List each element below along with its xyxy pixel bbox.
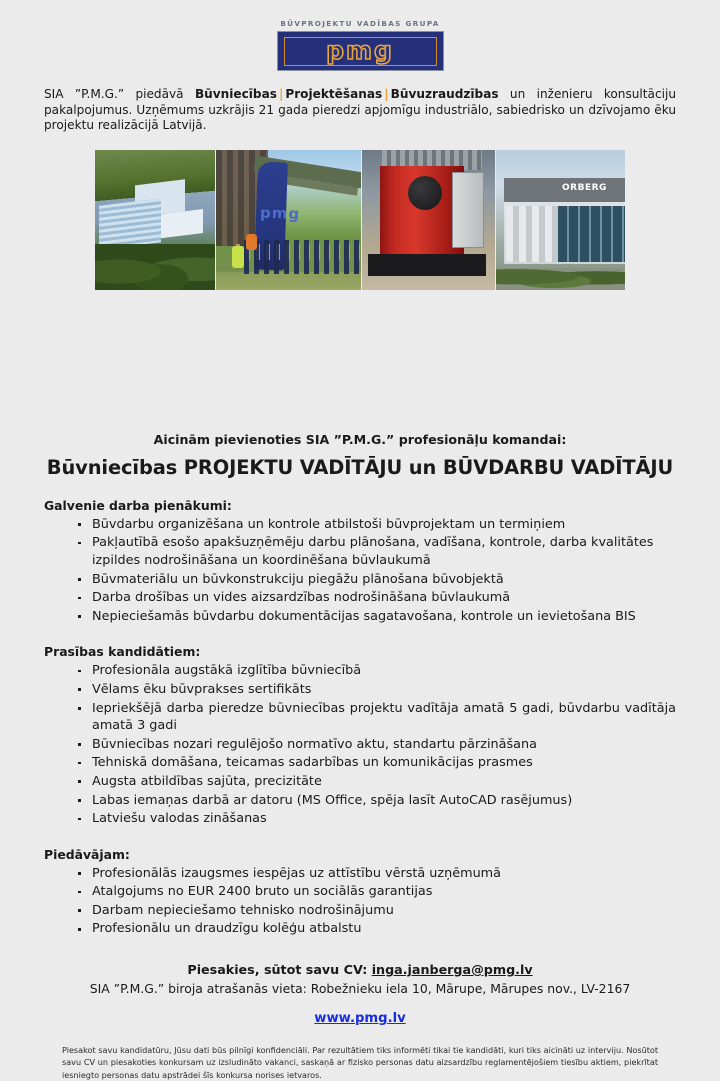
service-projektesanas: Projektēšanas xyxy=(285,87,382,101)
list-item: Pakļautībā esošo apakšuzņēmēju darbu plā… xyxy=(78,534,676,569)
list-item: Iepriekšējā darba pieredze būvniecības p… xyxy=(78,700,676,735)
invitation-line: Aicinām pievienoties SIA ”P.M.G.” profes… xyxy=(0,432,720,447)
photo-machine-base xyxy=(368,254,486,276)
logo-tagline: BŪVPROJEKTU VADĪBAS GRUPA xyxy=(280,19,439,28)
list-item: Būvniecības nozari regulējošo normatīvo … xyxy=(78,736,676,754)
job-title: Būvniecības PROJEKTU VADĪTĀJU un BŪVDARB… xyxy=(0,456,720,479)
section-duties-title: Galvenie darba pienākumi: xyxy=(44,498,676,513)
service-buvniecibas: Būvniecības xyxy=(195,87,277,101)
apply-label: Piesakies, sūtot savu CV: xyxy=(187,962,367,977)
section-requirements: Prasības kandidātiem: Profesionāla augst… xyxy=(44,644,676,827)
photo-people-seated xyxy=(244,240,361,274)
list-item: Tehniskā domāšana, teicamas sadarbības u… xyxy=(78,754,676,772)
logo-inner-frame: pmg xyxy=(284,37,437,66)
photo-red-industrial-machinery xyxy=(362,150,495,290)
photo-machine-control-panel xyxy=(452,172,484,248)
service-separator-2: | xyxy=(382,87,390,101)
job-advertisement-page: BŪVPROJEKTU VADĪBAS GRUPA pmg SIA ”P.M.G… xyxy=(0,0,720,1030)
list-item: Profesionāla augstākā izglītība būvniecī… xyxy=(78,662,676,680)
list-item: Augsta atbildības sajūta, precizitāte xyxy=(78,773,676,791)
logo-box: pmg xyxy=(277,31,444,71)
photo-aerial-industrial-site xyxy=(95,150,215,290)
list-item: Profesionālās izaugsmes iespējas uz attī… xyxy=(78,865,676,883)
photo-machine-drum xyxy=(408,176,442,210)
section-requirements-title: Prasības kandidātiem: xyxy=(44,644,676,659)
list-item: Būvdarbu organizēšana un kontrole atbils… xyxy=(78,516,676,534)
photo-landscaping xyxy=(496,268,625,290)
duties-list: Būvdarbu organizēšana un kontrole atbils… xyxy=(44,516,676,626)
privacy-disclaimer: Piesakot savu kandidatūru, Jūsu dati būs… xyxy=(62,1044,658,1081)
intro-lead: SIA ”P.M.G.” piedāvā xyxy=(44,87,184,101)
list-item: Darbam nepieciešamo tehnisko nodrošināju… xyxy=(78,902,676,920)
photo-building-columns xyxy=(506,206,560,262)
office-address: SIA ”P.M.G.” biroja atrašanās vieta: Rob… xyxy=(0,981,720,996)
offer-list: Profesionālās izaugsmes iespējas uz attī… xyxy=(44,865,676,938)
list-item: Labas iemaņas darbā ar datoru (MS Office… xyxy=(78,792,676,810)
list-item: Darba drošības un vides aizsardzības nod… xyxy=(78,589,676,607)
logo-wordmark: pmg xyxy=(326,38,394,65)
intro-paragraph: SIA ”P.M.G.” piedāvā Būvniecības|Projekt… xyxy=(44,87,676,134)
section-offer-title: Piedāvājam: xyxy=(44,847,676,862)
photo-orange-shirt-worker xyxy=(246,234,257,250)
website-line: www.pmg.lv xyxy=(0,1009,720,1027)
list-item: Atalgojums no EUR 2400 bruto un sociālās… xyxy=(78,883,676,901)
list-item: Vēlams ēku būvprakses sertifikāts xyxy=(78,681,676,699)
photo-banner-text: pmg xyxy=(260,204,301,223)
email-link[interactable]: inga.janberga@pmg.lv xyxy=(372,962,533,977)
requirements-list: Profesionāla augstākā izglītība būvniecī… xyxy=(44,662,676,827)
apply-line: Piesakies, sūtot savu CV: inga.janberga@… xyxy=(0,962,720,977)
photo-team-with-pmg-banner: pmg xyxy=(216,150,361,290)
section-duties: Galvenie darba pienākumi: Būvdarbu organ… xyxy=(44,498,676,626)
list-item: Būvmateriālu un būvkonstrukciju piegāžu … xyxy=(78,571,676,589)
list-item: Profesionālu un draudzīgu kolēģu atbalst… xyxy=(78,920,676,938)
photo-collage: pmg ORBERG xyxy=(95,150,625,290)
list-item: Latviešu valodas zināšanas xyxy=(78,810,676,828)
list-item: Nepieciešamās būvdarbu dokumentācijas sa… xyxy=(78,608,676,626)
company-logo: BŪVPROJEKTU VADĪBAS GRUPA pmg xyxy=(0,0,720,71)
section-offer: Piedāvājam: Profesionālās izaugsmes iesp… xyxy=(44,847,676,938)
photo-grass xyxy=(216,272,361,290)
photo-orberg-office-building: ORBERG xyxy=(496,150,625,290)
website-link[interactable]: www.pmg.lv xyxy=(314,1011,405,1026)
photo-hiviz-worker xyxy=(232,246,244,268)
photo-orberg-sign: ORBERG xyxy=(562,183,607,193)
photo-building-glass xyxy=(558,206,625,262)
service-buvuzraudzibas: Būvuzraudzības xyxy=(391,87,499,101)
